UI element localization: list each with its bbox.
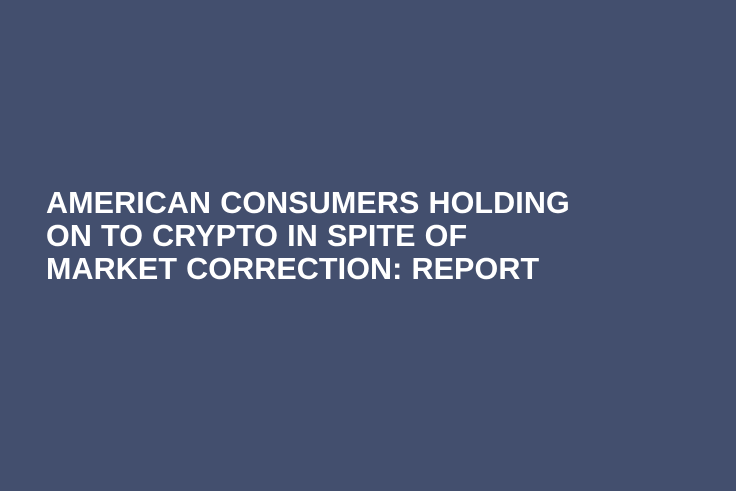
page-title-line-2: ON TO CRYPTO IN SPITE OF: [46, 220, 570, 253]
article-hero-banner: AMERICAN CONSUMERS HOLDING ON TO CRYPTO …: [0, 0, 736, 491]
page-title-line-3: MARKET CORRECTION: REPORT: [46, 253, 570, 286]
page-title-line-1: AMERICAN CONSUMERS HOLDING: [46, 187, 570, 220]
page-title: AMERICAN CONSUMERS HOLDING ON TO CRYPTO …: [46, 187, 570, 286]
